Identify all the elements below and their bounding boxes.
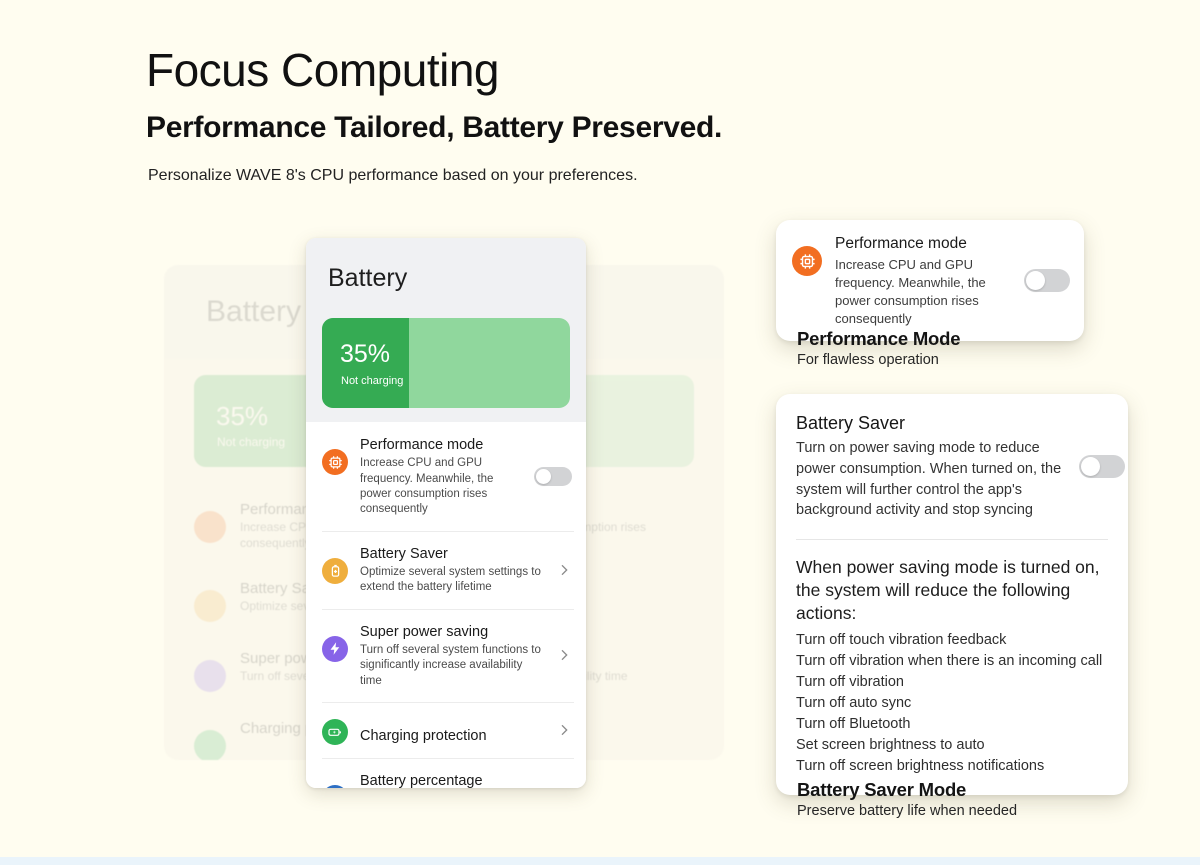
caption-title: Performance Mode <box>797 328 960 350</box>
bottom-accent-strip <box>0 857 1200 865</box>
ghost-battery-status: Not charging <box>217 435 285 449</box>
chevron-right-icon[interactable] <box>556 562 572 578</box>
cpu-chip-icon <box>792 246 822 276</box>
list-item-title: Battery percentage <box>360 772 522 788</box>
battery-saver-actions-heading: When power saving mode is turned on, the… <box>796 556 1108 626</box>
callout-title: Performance mode <box>835 234 1011 254</box>
page-description: Personalize WAVE 8's CPU performance bas… <box>148 166 638 187</box>
caption-performance-mode: Performance Mode For flawless operation <box>797 328 960 368</box>
page-title: Focus Computing <box>146 45 499 96</box>
battery-saver-toggle[interactable] <box>1079 455 1125 478</box>
ghost-screen-title: Battery <box>206 295 301 328</box>
phone-settings-card: Battery 35% Not charging P <box>306 238 586 788</box>
lightning-bolt-icon <box>322 636 348 662</box>
caption-title: Battery Saver Mode <box>797 779 1017 801</box>
battery-plus-icon <box>322 558 348 584</box>
performance-mode-toggle[interactable] <box>534 467 572 486</box>
list-item-performance-mode[interactable]: Performance mode Increase CPU and GPU fr… <box>306 422 586 531</box>
page-root: Focus Computing Performance Tailored, Ba… <box>0 0 1200 865</box>
battery-percent-label: 35% <box>340 342 390 367</box>
list-item-battery-percentage[interactable]: Battery percentage Show battery percenta… <box>306 758 586 788</box>
action-item: Turn off screen brightness notifications <box>796 756 1108 777</box>
phone-screen-title: Battery <box>328 264 407 292</box>
action-item: Turn off vibration <box>796 672 1108 693</box>
action-item: Set screen brightness to auto <box>796 735 1108 756</box>
cpu-chip-icon <box>322 449 348 475</box>
battery-charging-icon <box>322 719 348 745</box>
list-item-title: Super power saving <box>360 623 544 641</box>
action-item: Turn off touch vibration feedback <box>796 630 1108 651</box>
list-item-charging-protection[interactable]: Charging protection <box>306 702 586 758</box>
phone-screen-header: Battery <box>306 238 586 318</box>
battery-saver-title: Battery Saver <box>796 412 1066 435</box>
callout-performance-toggle[interactable] <box>1024 269 1070 292</box>
callout-description: Increase CPU and GPU frequency. Meanwhil… <box>835 256 1011 327</box>
battery-saver-description: Turn on power saving mode to reduce powe… <box>796 438 1066 520</box>
chevron-right-icon[interactable] <box>556 722 572 738</box>
battery-percent-icon <box>322 785 348 788</box>
battery-level-bar: 35% Not charging <box>322 318 570 408</box>
battery-saver-actions-list: Turn off touch vibration feedback Turn o… <box>796 630 1108 777</box>
list-item-super-power-saving[interactable]: Super power saving Turn off several syst… <box>306 609 586 702</box>
divider <box>796 539 1108 540</box>
battery-status-section: 35% Not charging <box>306 318 586 422</box>
action-item: Turn off Bluetooth <box>796 714 1108 735</box>
list-item-title: Battery Saver <box>360 545 544 563</box>
list-item-battery-saver[interactable]: Battery Saver Optimize several system se… <box>306 531 586 609</box>
action-item: Turn off vibration when there is an inco… <box>796 651 1108 672</box>
callout-performance-mode: Performance mode Increase CPU and GPU fr… <box>776 220 1084 341</box>
list-item-title: Performance mode <box>360 436 522 454</box>
action-item: Turn off auto sync <box>796 693 1108 714</box>
list-item-description: Turn off several system functions to sig… <box>360 643 544 689</box>
list-item-description: Optimize several system settings to exte… <box>360 565 544 596</box>
chevron-right-icon[interactable] <box>556 647 572 663</box>
battery-status-label: Not charging <box>341 375 403 387</box>
battery-settings-list: Performance mode Increase CPU and GPU fr… <box>306 422 586 788</box>
caption-subtitle: For flawless operation <box>797 352 960 368</box>
page-subtitle: Performance Tailored, Battery Preserved. <box>146 110 722 146</box>
ghost-battery-percent: 35% <box>216 401 268 432</box>
list-item-title: Charging protection <box>360 727 544 745</box>
caption-subtitle: Preserve battery life when needed <box>797 803 1017 819</box>
caption-battery-saver-mode: Battery Saver Mode Preserve battery life… <box>797 779 1017 819</box>
list-item-description: Increase CPU and GPU frequency. Meanwhil… <box>360 456 522 518</box>
callout-battery-saver: Battery Saver Turn on power saving mode … <box>776 394 1128 795</box>
